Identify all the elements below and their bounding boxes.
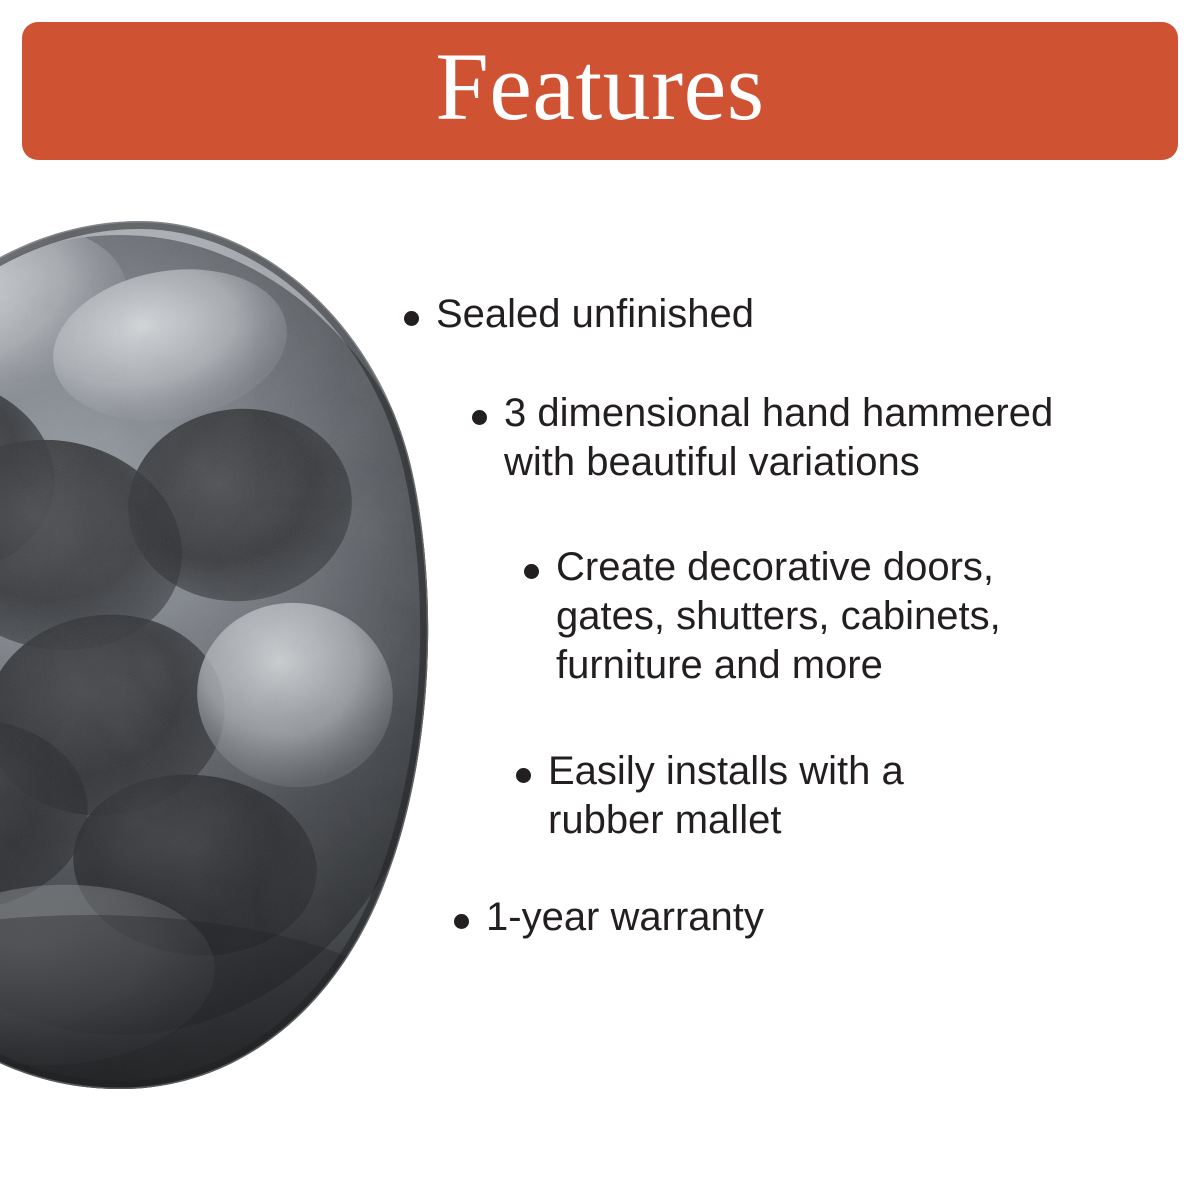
bullet-icon <box>516 768 531 783</box>
bullet-icon <box>472 410 487 425</box>
bullet-icon <box>524 564 539 579</box>
feature-item: Sealed unfinished <box>404 290 1104 339</box>
feature-item: Create decorative doors, gates, shutters… <box>524 543 1084 689</box>
feature-item: 3 dimensional hand hammered with beautif… <box>472 389 1112 487</box>
feature-text: Easily installs with a rubber mallet <box>548 747 1036 845</box>
feature-text: 1-year warranty <box>486 893 974 942</box>
feature-text: Create decorative doors, gates, shutters… <box>556 543 1084 689</box>
features-list: Sealed unfinished 3 dimensional hand ham… <box>0 0 1200 1200</box>
bullet-icon <box>454 914 469 929</box>
bullet-icon <box>404 311 419 326</box>
feature-item: 1-year warranty <box>454 893 974 942</box>
feature-text: Sealed unfinished <box>436 290 1104 339</box>
feature-item: Easily installs with a rubber mallet <box>516 747 1036 845</box>
feature-text: 3 dimensional hand hammered with beautif… <box>504 389 1112 487</box>
